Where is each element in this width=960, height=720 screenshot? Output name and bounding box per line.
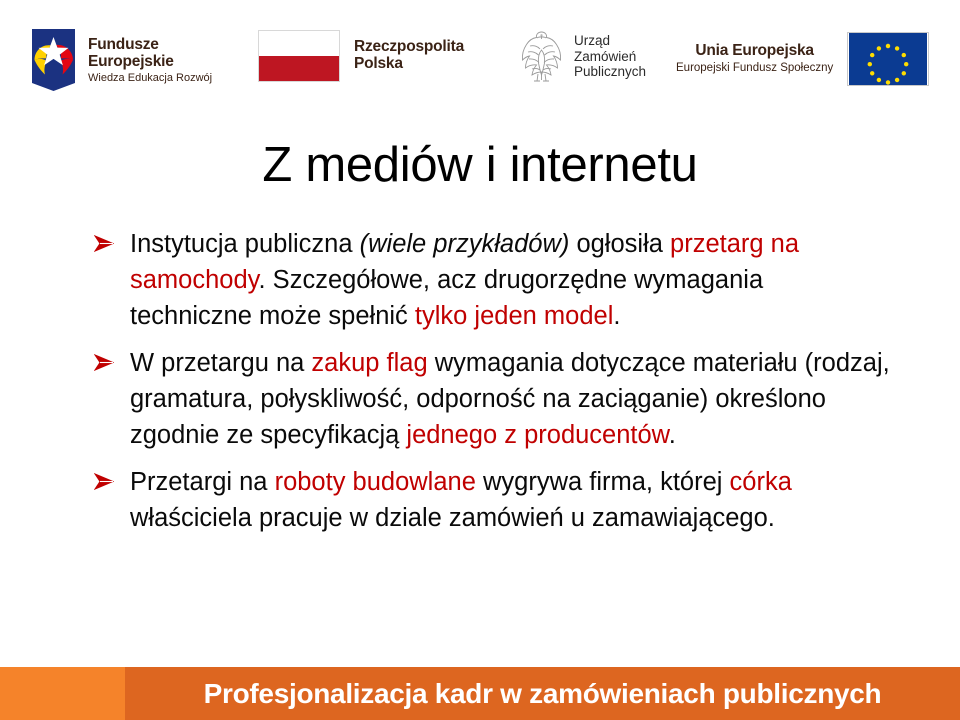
bullet-marker [94,464,114,490]
logo-line-1: Urząd [574,33,646,49]
bullet-marker [94,226,114,252]
bullet-segment-highlight: jednego z producentów [406,421,668,449]
logo-text-rzeczpospolita-polska: Rzeczpospolita Polska [354,39,464,72]
footer-banner: Profesjonalizacja kadr w zamówieniach pu… [0,667,960,720]
bullet-segment-highlight: córka [730,468,792,496]
bullet-segment: . [669,421,676,449]
bullet-segment: właściciela pracuje w dziale zamówień u … [130,504,775,532]
red-arrow-bullet-icon [94,473,114,490]
logo-line-2: Zamówień [574,49,646,65]
bullet-segment: Przetargi na [130,468,275,496]
logo-line-1: Fundusze [88,37,212,54]
logo-line-2: Europejskie [88,54,212,71]
bullet-item: Instytucja publiczna (wiele przykładów) … [92,226,892,334]
footer-title: Profesjonalizacja kadr w zamówieniach pu… [125,667,960,720]
bullet-text: Przetargi na roboty budowlane wygrywa fi… [130,468,792,532]
bullet-text: Instytucja publiczna (wiele przykładów) … [130,230,799,330]
eu-flag-icon [847,32,929,86]
fundusze-europejskie-flag-icon [30,27,77,93]
bullet-segment: W przetargu na [130,349,311,377]
red-arrow-bullet-icon [94,235,114,252]
bullet-segment: Instytucja publiczna [130,230,360,258]
bullet-segment-highlight: tylko jeden model [415,302,613,330]
red-arrow-bullet-icon [94,354,114,371]
page-title: Z mediów i internetu [0,137,960,193]
logo-subtitle: Europejski Fundusz Społeczny [676,62,833,74]
logo-text-fundusze-europejskie: Fundusze Europejskie Wiedza Edukacja Roz… [88,35,212,84]
logo-fundusze-europejskie: Fundusze Europejskie Wiedza Edukacja Roz… [30,27,212,93]
logo-text-urzad-zamowien-publicznych: Urząd Zamówień Publicznych [574,33,646,81]
logo-line-1: Unia Europejska [676,43,833,60]
bullet-item: W przetargu na zakup flag wymagania doty… [92,345,892,453]
logo-subtitle: Wiedza Edukacja Rozwój [88,73,212,85]
bullet-segment: ogłosiła [569,230,670,258]
logo-line-3: Publicznych [574,64,646,80]
polish-flag-icon [258,30,340,82]
header-logo-bar: Fundusze Europejskie Wiedza Edukacja Roz… [0,0,960,118]
bullet-item: Przetargi na roboty budowlane wygrywa fi… [92,464,892,536]
bullet-marker [94,345,114,371]
polish-eagle-icon [518,28,565,85]
logo-rzeczpospolita-polska: Rzeczpospolita Polska [258,30,464,82]
bullet-list: Instytucja publiczna (wiele przykładów) … [92,226,892,547]
logo-line-1: Rzeczpospolita [354,39,464,56]
bullet-segment-italic: (wiele przykładów) [360,230,570,258]
logo-urzad-zamowien-publicznych: Urząd Zamówień Publicznych [518,28,646,85]
bullet-text: W przetargu na zakup flag wymagania doty… [130,349,890,449]
bullet-segment-highlight: roboty budowlane [275,468,476,496]
footer-accent-strip [0,667,125,720]
logo-unia-europejska: Unia Europejska Europejski Fundusz Społe… [676,32,929,86]
bullet-segment: wygrywa firma, której [476,468,730,496]
bullet-segment: . [613,302,620,330]
logo-text-unia-europejska: Unia Europejska Europejski Fundusz Społe… [676,43,833,74]
bullet-segment-highlight: zakup flag [311,349,427,377]
logo-line-2: Polska [354,56,464,73]
